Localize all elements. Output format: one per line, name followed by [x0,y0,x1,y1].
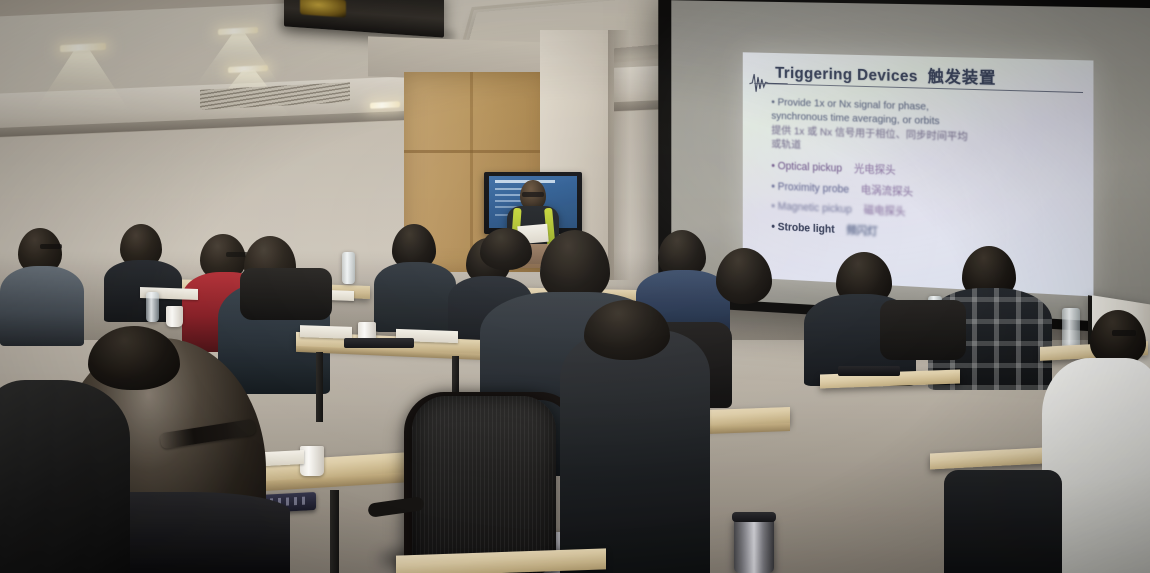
bullet-en: • Magnetic pickup [771,200,852,215]
slide-bullet: • Strobe light频闪灯 [771,221,1083,248]
handout-papers [300,325,352,339]
office-chair [880,300,966,360]
attendee-body [374,262,456,332]
attendee-body [0,266,84,346]
slide-title-cn: 触发装置 [928,69,997,88]
chair-mesh-back [412,396,556,573]
projected-slide: Triggering Devices触发装置 • Provide 1x or N… [743,52,1094,296]
panel-seam [404,150,550,153]
office-chair [240,268,332,320]
desk-leg [330,490,339,573]
bullet-cn: 磁电探头 [864,204,906,218]
thermos-flask [734,516,774,573]
attendee-head [480,228,532,270]
bullet-cn: 频闪灯 [846,224,877,237]
attendee-body [944,470,1062,573]
water-bottle [342,252,355,284]
glasses-icon [1112,330,1136,336]
foreground-attendee-body [560,330,710,573]
bullet-en: • Strobe light [771,221,834,236]
slide-bullet: • Optical pickup光电探头 [771,160,1083,184]
panel-seam [470,72,473,272]
water-bottle [1062,308,1080,350]
paper-cup [166,306,183,327]
glasses-icon [40,244,62,249]
foreground-attendee-body [0,380,130,573]
slide-body: • Provide 1x or Nx signal for phase, syn… [771,96,1083,248]
desk-leg [316,352,323,422]
bullet-en: • Proximity probe [771,180,849,195]
bullet-cn: 光电探头 [854,163,896,177]
bullet-cn: 电涡流探头 [861,184,913,198]
bullet-en: • Optical pickup [771,160,842,175]
presenter-glasses-icon [522,192,544,197]
slide-title-en: Triggering Devices [775,65,918,86]
column-shadow [608,30,630,280]
thermos-cap [732,512,776,522]
notebook [344,338,414,348]
water-bottle [146,292,159,322]
classroom-photo: Triggering Devices触发装置 • Provide 1x or N… [0,0,1150,573]
notebook [838,366,900,376]
